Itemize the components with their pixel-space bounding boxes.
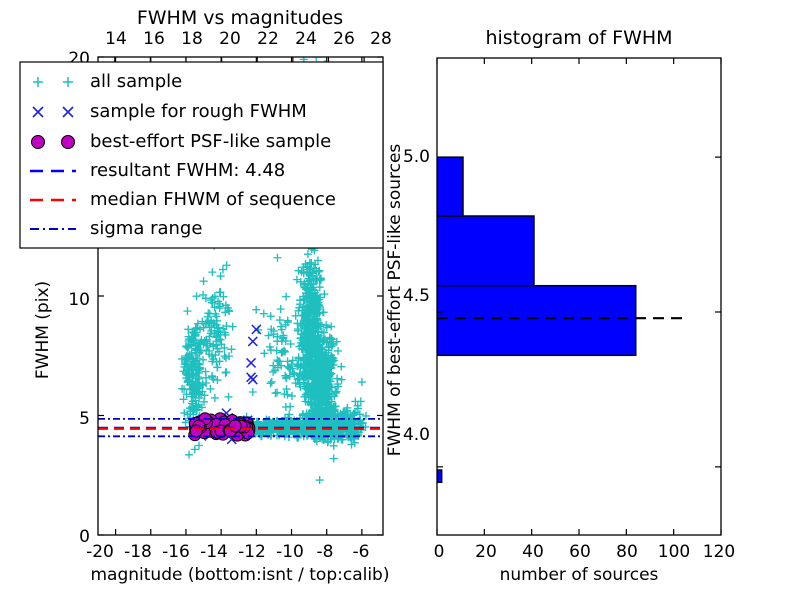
top-tick-label: 28: [370, 29, 392, 49]
right-panel-x-tick-labels: 0 20 40 60 80 100 120: [434, 542, 736, 562]
right-panel-xlabel: number of sources: [500, 565, 659, 585]
right-panel-data: [437, 157, 683, 482]
left-panel-x-tick-labels: -20 -18 -16 -14 -12 -10 -8 -6: [86, 542, 369, 562]
x-tick-label: 20: [475, 542, 497, 562]
x-tick-label: 40: [522, 542, 544, 562]
legend[interactable]: all samplesample for rough FWHMbest-effo…: [20, 62, 383, 248]
left-panel-xlabel: magnitude (bottom:isnt / top:calib): [91, 565, 390, 585]
x-tick-label: -8: [317, 542, 334, 562]
right-panel-y-tick-labels: 4.0 4.5 5.0: [403, 147, 430, 445]
x-tick-label: -12: [238, 542, 266, 562]
legend-item-label: resultant FWHM: 4.48: [90, 160, 285, 181]
histogram-bar: [437, 216, 534, 286]
matplotlib-figure: FWHM vs magnitudes 14 16 18 20 22 24 26 …: [0, 0, 800, 600]
x-tick-label: -20: [86, 542, 114, 562]
y-tick-label: 10: [68, 290, 90, 310]
x-tick-label: 120: [703, 542, 735, 562]
right-panel-title: histogram of FWHM: [485, 27, 672, 49]
x-tick-label: -18: [124, 542, 152, 562]
legend-item-label: median FHWM of sequence: [90, 189, 336, 210]
legend-item-label: all sample: [90, 71, 182, 92]
left-panel-ylabel: FWHM (pix): [33, 281, 53, 379]
left-panel-title: FWHM vs magnitudes: [137, 7, 343, 29]
top-tick-label: 24: [295, 29, 317, 49]
x-tick-label: -14: [200, 542, 228, 562]
legend-item-label: best-effort PSF-like sample: [90, 131, 331, 152]
x-tick-label: 60: [569, 542, 591, 562]
legend-item-label: sample for rough FWHM: [90, 101, 307, 122]
y-tick-label: 5.0: [403, 147, 430, 167]
y-tick-label: 4.5: [403, 286, 430, 306]
x-tick-label: -6: [353, 542, 370, 562]
legend-item-label: sigma range: [90, 218, 202, 239]
top-tick-label: 18: [181, 29, 203, 49]
y-tick-label: 4.0: [403, 425, 430, 445]
top-tick-label: 14: [105, 29, 127, 49]
top-tick-label: 20: [219, 29, 241, 49]
y-tick-label: 5: [79, 409, 90, 429]
x-tick-label: -16: [162, 542, 190, 562]
y-tick-label: 0: [79, 527, 90, 547]
top-tick-label: 26: [333, 29, 355, 49]
x-tick-label: -10: [276, 542, 304, 562]
left-panel-top-tick-labels: 14 16 18 20 22 24 26 28: [105, 29, 392, 49]
histogram-bar: [437, 157, 463, 216]
right-panel-ylabel: FWHM of best-effort PSF-like sources: [385, 144, 405, 457]
x-tick-label: 80: [616, 542, 638, 562]
x-tick-label: 100: [658, 542, 690, 562]
figure-canvas: FWHM vs magnitudes 14 16 18 20 22 24 26 …: [0, 0, 800, 600]
histogram-bar: [437, 286, 636, 356]
right-panel: histogram of FWHM 0 20 40 60 80 100 120 …: [385, 27, 735, 585]
top-tick-label: 22: [257, 29, 279, 49]
top-tick-label: 16: [143, 29, 165, 49]
histogram-bar: [437, 470, 442, 482]
x-tick-label: 0: [434, 542, 445, 562]
